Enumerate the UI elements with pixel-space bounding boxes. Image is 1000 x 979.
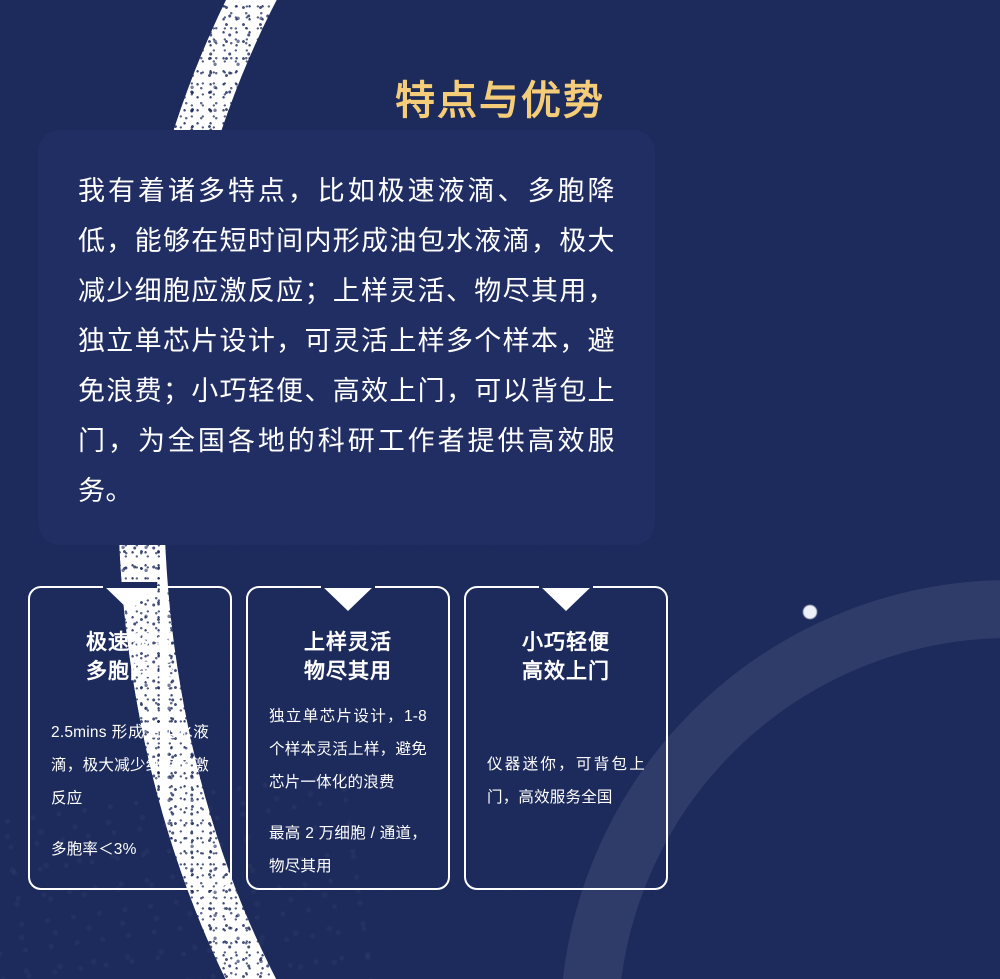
feature-card-2-body: 独立单芯片设计，1-8个样本灵活上样，避免芯片一体化的浪费 最高 2 万细胞 /… — [264, 700, 432, 883]
feature-advantages-page: 特点与优势 我有着诸多特点，比如极速液滴、多胞降低，能够在短时间内形成油包水液滴… — [0, 0, 1000, 979]
triangle-notch-icon — [539, 585, 593, 611]
feature-card-1-title: 极速液滴 多胞降低 — [46, 628, 214, 686]
intro-paragraph: 我有着诸多特点，比如极速液滴、多胞降低，能够在短时间内形成油包水液滴，极大减少细… — [78, 166, 615, 516]
feature-card-3-paragraph-1: 仪器迷你，可背包上门，高效服务全国 — [487, 748, 645, 814]
feature-card-2-paragraph-2: 最高 2 万细胞 / 通道，物尽其用 — [269, 817, 427, 883]
feature-card-3-title: 小巧轻便 高效上门 — [482, 628, 650, 686]
triangle-notch-icon — [103, 585, 157, 611]
feature-card-1-paragraph-1: 2.5mins 形成油包水液滴，极大减少细胞应激反应 — [51, 716, 209, 815]
page-title: 特点与优势 — [0, 68, 1000, 126]
feature-card-1[interactable]: 极速液滴 多胞降低 2.5mins 形成油包水液滴，极大减少细胞应激反应 多胞率… — [28, 586, 232, 890]
feature-card-1-body: 2.5mins 形成油包水液滴，极大减少细胞应激反应 多胞率＜3% — [46, 716, 214, 866]
feature-card-1-paragraph-2: 多胞率＜3% — [51, 833, 209, 866]
feature-card-3[interactable]: 小巧轻便 高效上门 仪器迷你，可背包上门，高效服务全国 — [464, 586, 668, 890]
white-dot-icon — [803, 605, 817, 619]
feature-card-2[interactable]: 上样灵活 物尽其用 独立单芯片设计，1-8个样本灵活上样，避免芯片一体化的浪费 … — [246, 586, 450, 890]
triangle-notch-icon — [321, 585, 375, 611]
feature-card-2-title: 上样灵活 物尽其用 — [264, 628, 432, 686]
intro-panel: 我有着诸多特点，比如极速液滴、多胞降低，能够在短时间内形成油包水液滴，极大减少细… — [38, 130, 655, 545]
feature-card-list: 极速液滴 多胞降低 2.5mins 形成油包水液滴，极大减少细胞应激反应 多胞率… — [28, 586, 668, 890]
feature-card-3-body: 仪器迷你，可背包上门，高效服务全国 — [482, 748, 650, 814]
feature-card-2-paragraph-1: 独立单芯片设计，1-8个样本灵活上样，避免芯片一体化的浪费 — [269, 700, 427, 799]
